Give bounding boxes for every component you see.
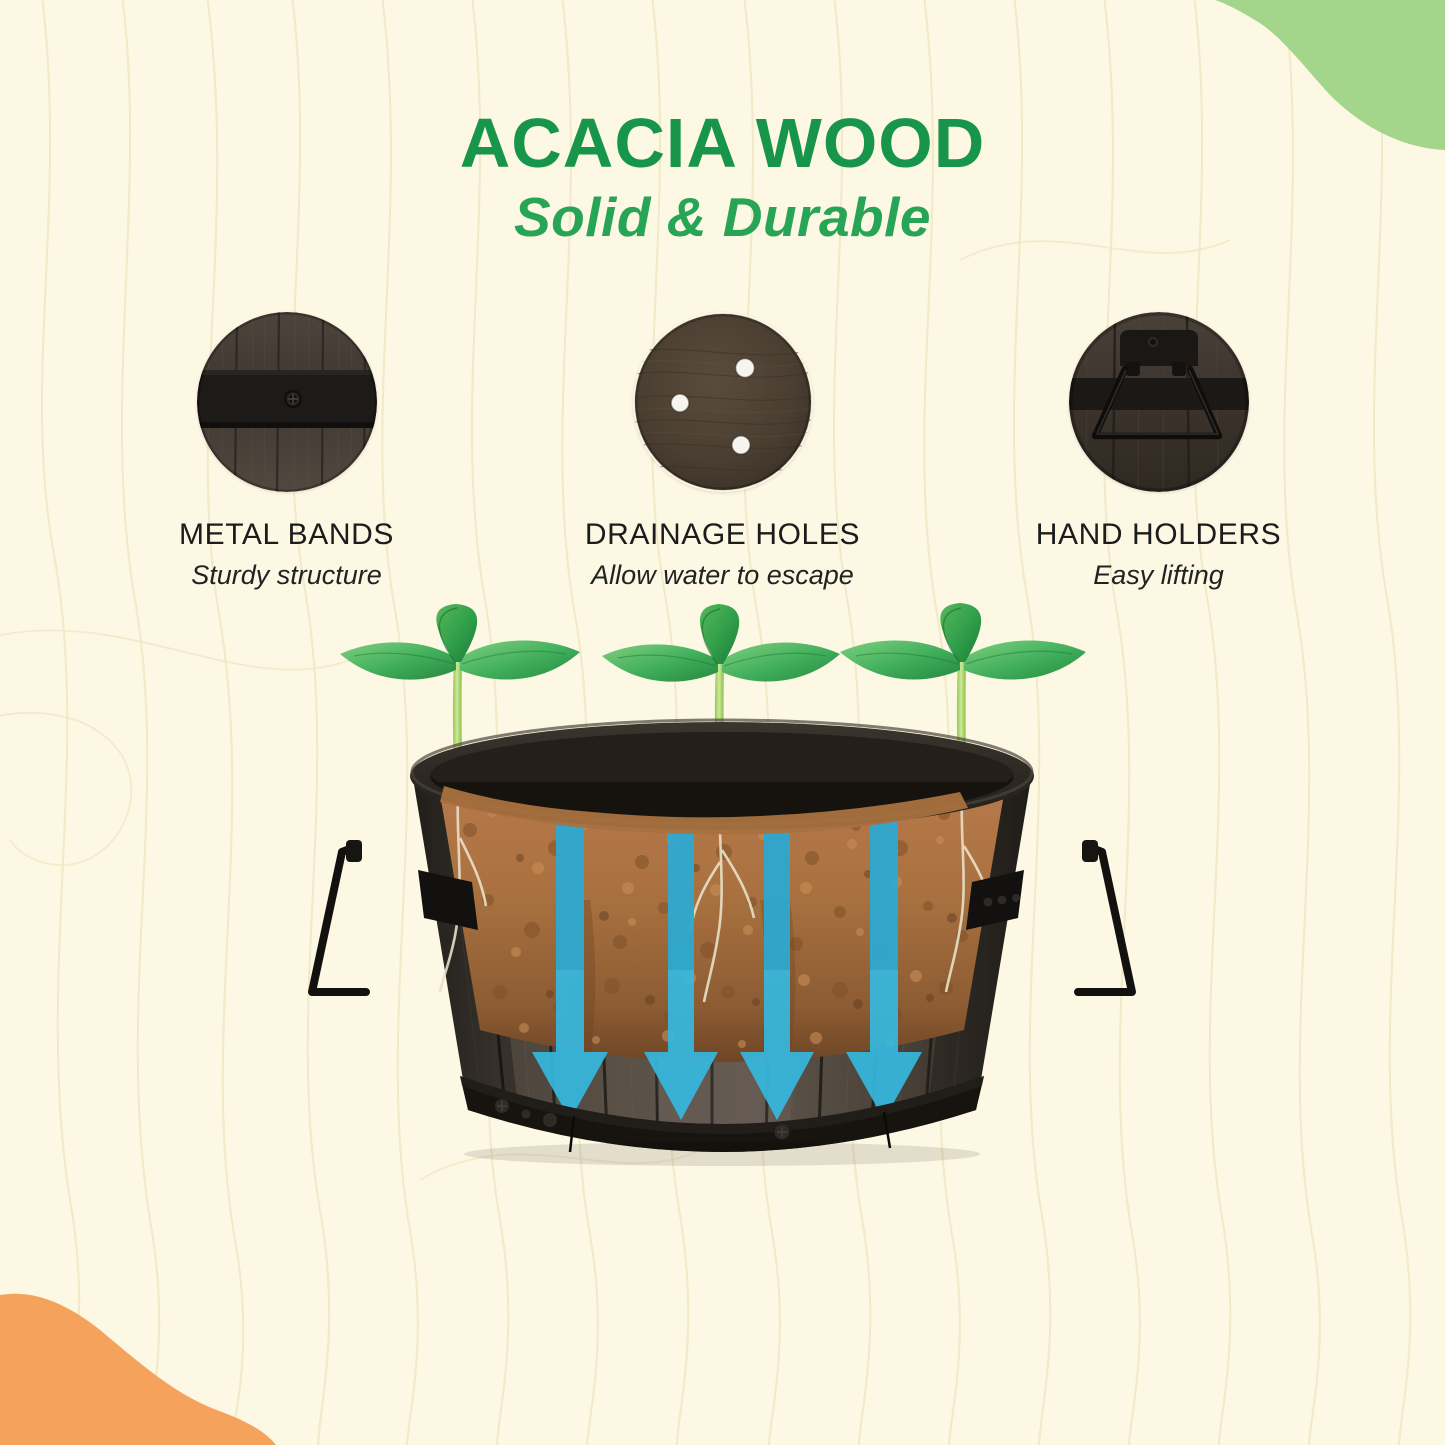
drainage-holes-closeup-icon <box>633 312 813 492</box>
page-title: ACACIA WOOD <box>0 108 1445 178</box>
feature-name: DRAINAGE HOLES <box>585 518 860 552</box>
feature-name: METAL BANDS <box>179 518 394 552</box>
handle-right <box>1078 840 1132 992</box>
barrel-planter <box>312 720 1132 1166</box>
feature-drainage-holes: DRAINAGE HOLES Allow water to escape <box>543 312 903 591</box>
handle-left <box>312 840 366 992</box>
hand-holder-closeup-icon <box>1069 312 1249 492</box>
feature-desc: Sturdy structure <box>191 560 382 591</box>
metal-band-closeup-icon <box>197 312 377 492</box>
feature-list: METAL BANDS Sturdy structure <box>0 312 1445 591</box>
page-subtitle: Solid & Durable <box>0 190 1445 245</box>
feature-desc: Allow water to escape <box>591 560 854 591</box>
feature-desc: Easy lifting <box>1093 560 1224 591</box>
header-block: ACACIA WOOD Solid & Durable <box>0 0 1445 245</box>
feature-name: HAND HOLDERS <box>1036 518 1282 552</box>
product-planter-image <box>0 600 1445 1445</box>
feature-hand-holders: HAND HOLDERS Easy lifting <box>979 312 1339 591</box>
feature-metal-bands: METAL BANDS Sturdy structure <box>107 312 467 591</box>
